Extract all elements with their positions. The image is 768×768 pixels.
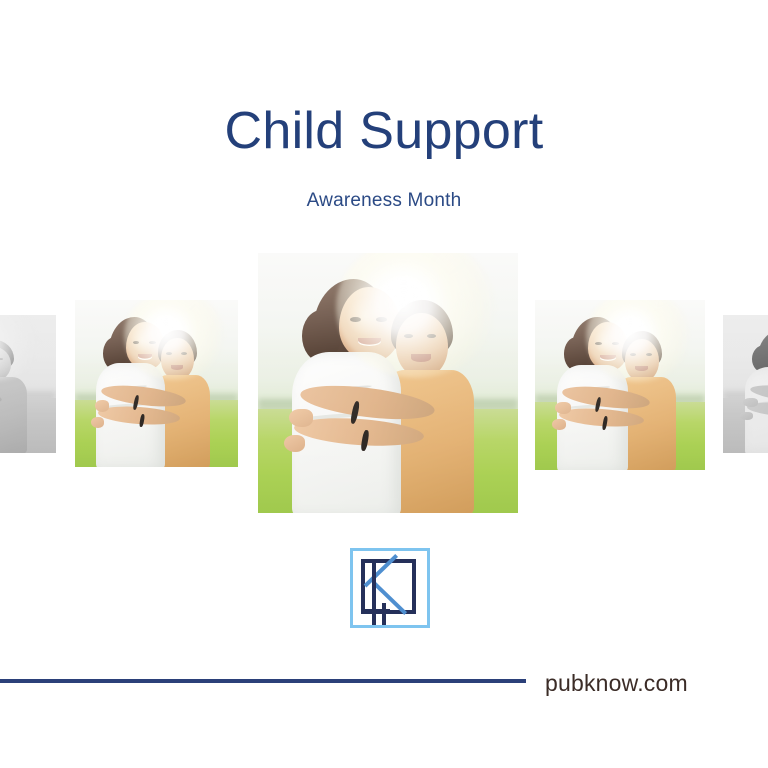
footer-divider bbox=[0, 679, 526, 683]
photo-filmstrip bbox=[0, 250, 768, 520]
girl-smile bbox=[138, 354, 153, 360]
boy-head bbox=[396, 313, 448, 378]
girl-eye-right bbox=[376, 317, 386, 322]
boy-eye-left bbox=[166, 352, 172, 355]
boy-eye-right bbox=[181, 352, 187, 355]
brand-logo[interactable] bbox=[350, 548, 430, 628]
boy-head bbox=[625, 339, 659, 382]
boy-eye-left bbox=[630, 353, 636, 356]
photo-mid-left bbox=[75, 300, 238, 467]
logo-k-second-leg-icon bbox=[382, 603, 386, 625]
logo-k-stem-icon bbox=[372, 559, 376, 625]
hand-upper bbox=[555, 402, 570, 414]
hand-upper bbox=[289, 409, 312, 427]
girl-eye-right bbox=[149, 341, 156, 344]
poster-canvas: Child Support Awareness Month bbox=[0, 0, 768, 768]
boy-eye-right bbox=[646, 353, 652, 356]
photo-edge-right bbox=[723, 315, 768, 453]
hand-lower bbox=[552, 419, 566, 430]
girl-eye-left bbox=[595, 342, 602, 345]
page-title: Child Support bbox=[0, 101, 768, 161]
photo-mid-right bbox=[535, 300, 705, 470]
girl-smile bbox=[600, 355, 615, 361]
hand-lower bbox=[740, 412, 753, 421]
boy-torso bbox=[0, 377, 27, 453]
photo-center bbox=[258, 253, 518, 513]
girl-eye-right bbox=[612, 342, 619, 345]
page-subtitle: Awareness Month bbox=[0, 188, 768, 214]
photo-edge-left bbox=[0, 315, 56, 453]
girl-eye-left bbox=[350, 317, 360, 322]
footer-website-url[interactable]: pubknow.com bbox=[545, 668, 688, 698]
boy-head bbox=[161, 338, 194, 380]
hand-upper bbox=[743, 398, 758, 408]
logo-k-crossbar-icon bbox=[364, 609, 390, 613]
hand-lower bbox=[284, 435, 305, 452]
hand-upper bbox=[95, 400, 110, 412]
hand-lower bbox=[91, 417, 104, 428]
logo-inner-frame bbox=[361, 559, 416, 614]
